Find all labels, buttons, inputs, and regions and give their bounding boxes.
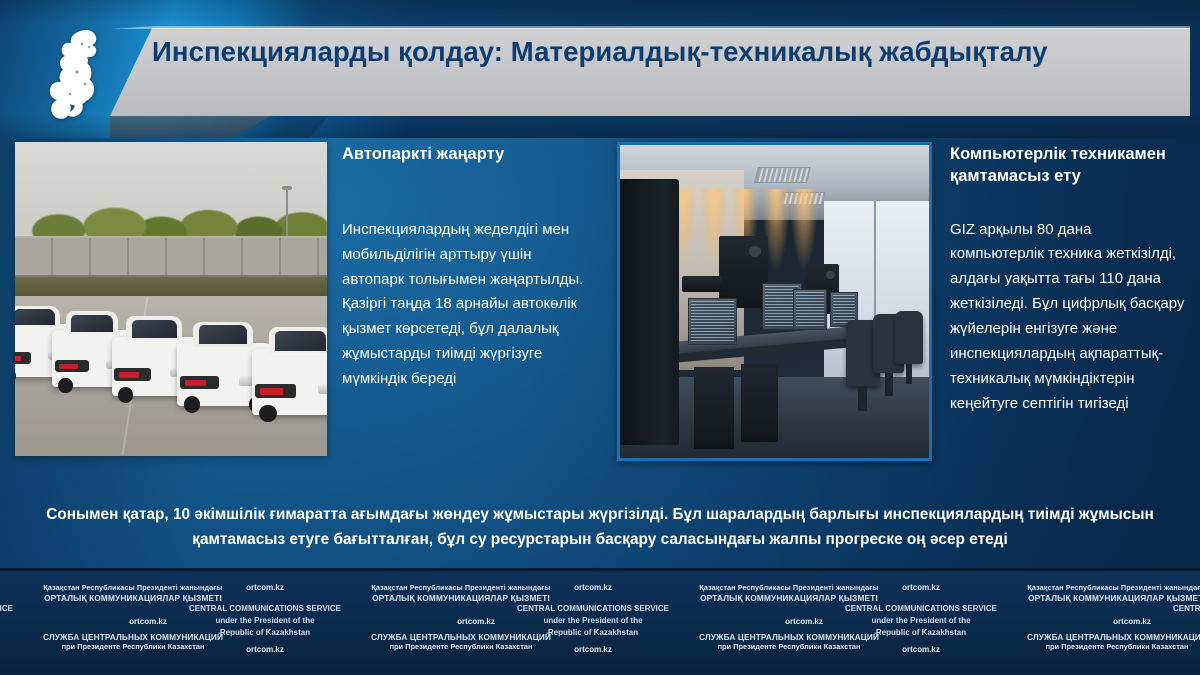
right-column-body: GIZ арқылы 80 дана компьютерлік техника … <box>950 218 1188 417</box>
computer-room-illustration <box>620 145 929 458</box>
footer-url[interactable]: ortcom.kz <box>88 617 208 626</box>
footnote-text: Сонымен қатар, 10 әкімшілік ғимаратта ағ… <box>30 503 1170 553</box>
footer-url[interactable]: ortcom.kz <box>533 645 653 654</box>
footer-url[interactable]: ortcom.kz <box>1189 645 1200 654</box>
monitor <box>688 298 737 345</box>
footer-url[interactable]: ortcom.kz <box>533 583 653 592</box>
footer-url[interactable]: ortcom.kz <box>205 645 325 654</box>
monitor <box>793 289 827 330</box>
left-text-column: Автопаркті жаңарту Инспекциялардың жедел… <box>342 144 590 392</box>
concrete-fence <box>15 236 327 277</box>
speaker-cabinet <box>719 236 768 308</box>
slide-header: Инспекцияларды қолдау: Материалдық-техни… <box>0 0 1200 138</box>
vehicle-fleet-photo <box>15 142 327 456</box>
footer-url[interactable]: ortcom.kz <box>744 617 864 626</box>
equipment-rack <box>620 179 679 445</box>
computer-tower <box>741 364 778 442</box>
office-chair <box>895 311 923 364</box>
page-title: Инспекцияларды қолдау: Материалдық-техни… <box>152 32 1162 72</box>
footer-url[interactable]: ortcom.kz <box>1189 583 1200 592</box>
footer-tile-track: Қазақстан Республикасы Президенті жанынд… <box>0 571 1200 675</box>
slide-body: Автопаркті жаңарту Инспекциялардың жедел… <box>0 138 1200 488</box>
vehicle-fleet-illustration <box>15 142 327 456</box>
footer-url[interactable]: ortcom.kz <box>861 645 981 654</box>
footer-logo-tile: Қазақстан Республикасы Президенті жанынд… <box>656 571 984 675</box>
title-plate-highlight <box>110 26 1190 29</box>
wall-light-glow <box>790 189 818 270</box>
left-column-heading: Автопаркті жаңарту <box>342 144 590 166</box>
left-column-body: Инспекциялардың жеделдігі мен мобильділі… <box>342 218 590 392</box>
ceiling-vent <box>754 167 810 183</box>
footer-url[interactable]: ortcom.kz <box>1072 617 1192 626</box>
snow-leopard-emblem-icon <box>44 22 116 122</box>
footer-ru-line2: при Президенте Республики Казахстан <box>1002 642 1200 653</box>
footer-logo-tile: Қазақстан Республикасы Президенті жанынд… <box>0 571 328 675</box>
computer-tower <box>694 367 734 448</box>
footer-url[interactable]: ortcom.kz <box>861 583 981 592</box>
computer-room-photo <box>617 142 932 461</box>
av-receiver <box>682 276 722 292</box>
footnote-banner: Сонымен қатар, 10 әкімшілік ғимаратта ағ… <box>0 488 1200 568</box>
footer-logo-tile: Қазақстан Республикасы Президенті жанынд… <box>328 571 656 675</box>
pickup-truck <box>252 349 327 415</box>
right-text-column: Компьютерлік техникамен қамтамасыз ету G… <box>950 144 1188 417</box>
right-column-heading: Компьютерлік техникамен қамтамасыз ету <box>950 144 1188 188</box>
footer-url[interactable]: ortcom.kz <box>205 583 325 592</box>
footer-logo-strip: Қазақстан Республикасы Президенті жанынд… <box>0 568 1200 675</box>
footer-url[interactable]: ortcom.kz <box>416 617 536 626</box>
footer-logo-tile: Қазақстан Республикасы Президенті жанынд… <box>984 571 1200 675</box>
slide-root: Инспекцияларды қолдау: Материалдық-техни… <box>0 0 1200 675</box>
